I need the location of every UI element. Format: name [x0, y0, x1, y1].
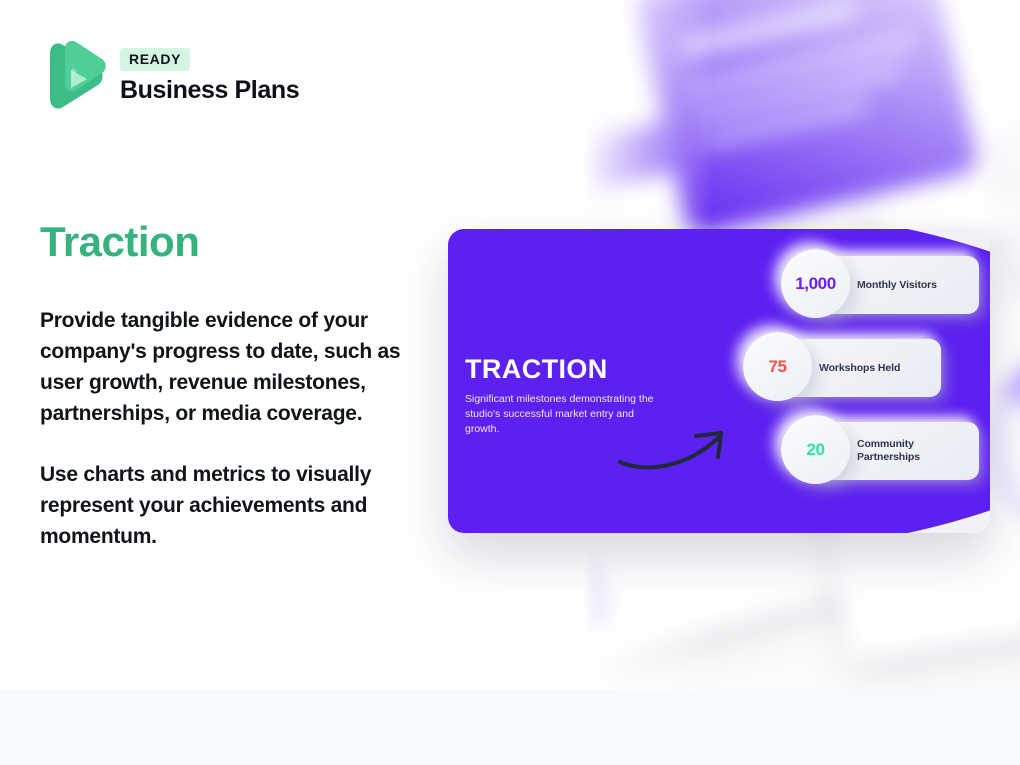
brand-title: Business Plans: [120, 76, 299, 105]
metric-row[interactable]: Monthly Visitors 1,000: [781, 256, 983, 314]
metric-circle: 75: [743, 332, 812, 401]
body-paragraph-2: Use charts and metrics to visually repre…: [40, 459, 430, 552]
body-paragraph-1: Provide tangible evidence of your compan…: [40, 305, 430, 429]
metric-label: Workshops Held: [819, 362, 900, 375]
slide-preview-stage: READY Business Plans Traction Provide ta…: [0, 0, 1020, 765]
traction-slide-card[interactable]: TRACTION Significant milestones demonstr…: [448, 229, 990, 533]
body-copy: Provide tangible evidence of your compan…: [40, 305, 430, 552]
metric-value: 1,000: [795, 274, 836, 294]
metric-circle: 1,000: [781, 249, 850, 318]
play-triangle-logo-icon: [40, 40, 106, 112]
ready-badge: READY: [120, 48, 190, 71]
page-title: Traction: [40, 218, 199, 266]
curved-arrow-up-right-icon: [618, 424, 738, 474]
slide-heading: TRACTION: [465, 354, 608, 385]
metric-label: Monthly Visitors: [857, 279, 937, 292]
metric-label: Community Partnerships: [857, 438, 979, 464]
metric-row[interactable]: Community Partnerships 20: [781, 422, 983, 480]
metric-row[interactable]: Workshops Held 75: [743, 339, 983, 397]
metric-value: 20: [806, 440, 824, 460]
brand-lockup: READY Business Plans: [40, 40, 299, 112]
metric-value: 75: [768, 357, 786, 377]
metric-circle: 20: [781, 415, 850, 484]
metrics-list: Monthly Visitors 1,000 Workshops Held 75…: [743, 256, 983, 480]
bottom-strip: [0, 690, 1020, 765]
brand-text-block: READY Business Plans: [120, 48, 299, 105]
